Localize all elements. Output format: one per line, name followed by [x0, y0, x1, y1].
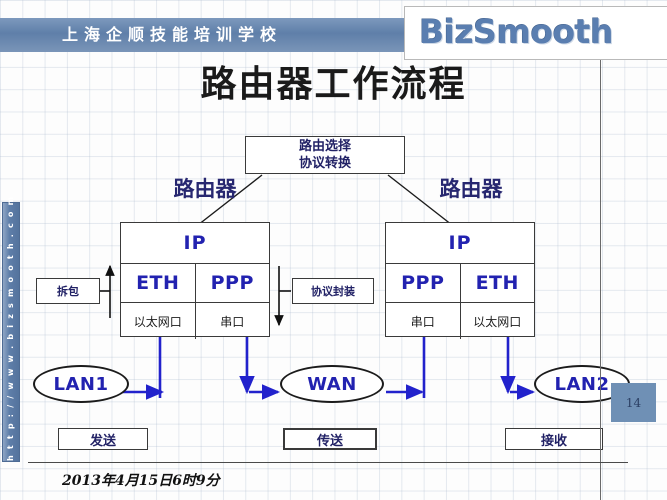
- top-box-line1: 路由选择: [299, 138, 351, 155]
- encapsulation-label-box: 协议封装: [292, 278, 374, 304]
- router-left-port-ethernet: 以太网口: [121, 303, 196, 339]
- router-right-protocol-eth: ETH: [461, 264, 535, 302]
- school-name: 上海企顺技能培训学校: [62, 22, 392, 48]
- top-box-line2: 协议转换: [299, 155, 351, 172]
- router-right-port-row: 串口 以太网口: [386, 302, 534, 339]
- router-left-port-left-label: 以太网口: [134, 313, 182, 330]
- sidebar-url-strip: h t t p : / / w w w . b i z s m o o t h …: [2, 202, 20, 462]
- router-right-proto-right-label: ETH: [476, 272, 519, 294]
- footer-divider: [28, 462, 628, 463]
- router-right-port-left-label: 串口: [411, 313, 435, 330]
- router-right-port-right-label: 以太网口: [473, 313, 521, 330]
- router-left-table: IP ETH PPP 以太网口 串口: [120, 222, 270, 337]
- footer-date: 2013年4月15日6时9分: [62, 470, 220, 492]
- router-left-ip-row: IP: [121, 223, 269, 263]
- label-send: 发送: [58, 428, 148, 450]
- router-caption-right: 路由器: [406, 175, 536, 203]
- router-left-protocol-row: ETH PPP: [121, 263, 269, 302]
- unpack-label-box: 拆包: [36, 278, 100, 304]
- router-left-proto-right-label: PPP: [211, 272, 254, 294]
- router-right-protocol-row: PPP ETH: [386, 263, 534, 302]
- router-left-port-serial: 串口: [196, 303, 270, 339]
- router-left-proto-left-label: ETH: [136, 272, 179, 294]
- routing-selection-box: 路由选择 协议转换: [245, 136, 405, 174]
- page-title: 路由器工作流程: [0, 62, 667, 108]
- router-left-protocol-eth: ETH: [121, 264, 196, 302]
- slide-canvas: 上海企顺技能培训学校 BizSmooth h t t p : / / w w w…: [0, 0, 667, 500]
- right-vertical-rule: [600, 60, 601, 500]
- page-number: 14: [611, 383, 656, 422]
- node-wan: WAN: [280, 365, 384, 403]
- router-right-proto-left-label: PPP: [401, 272, 444, 294]
- router-left-ip-label: IP: [184, 232, 207, 254]
- brand-logo-text: BizSmooth: [419, 13, 667, 51]
- router-right-protocol-ppp: PPP: [386, 264, 461, 302]
- router-right-ip-row: IP: [386, 223, 534, 263]
- label-transmit: 传送: [283, 428, 377, 450]
- router-right-port-ethernet: 以太网口: [461, 303, 535, 339]
- router-left-protocol-ppp: PPP: [196, 264, 270, 302]
- router-left-port-row: 以太网口 串口: [121, 302, 269, 339]
- router-right-ip-label: IP: [449, 232, 472, 254]
- sidebar-url-label: h t t p : / / w w w . b i z s m o o t h …: [3, 203, 19, 461]
- router-right-table: IP PPP ETH 串口 以太网口: [385, 222, 535, 337]
- router-right-port-serial: 串口: [386, 303, 461, 339]
- router-left-port-right-label: 串口: [220, 313, 244, 330]
- node-lan1: LAN1: [33, 365, 129, 403]
- router-caption-left: 路由器: [140, 175, 270, 203]
- label-receive: 接收: [505, 428, 603, 450]
